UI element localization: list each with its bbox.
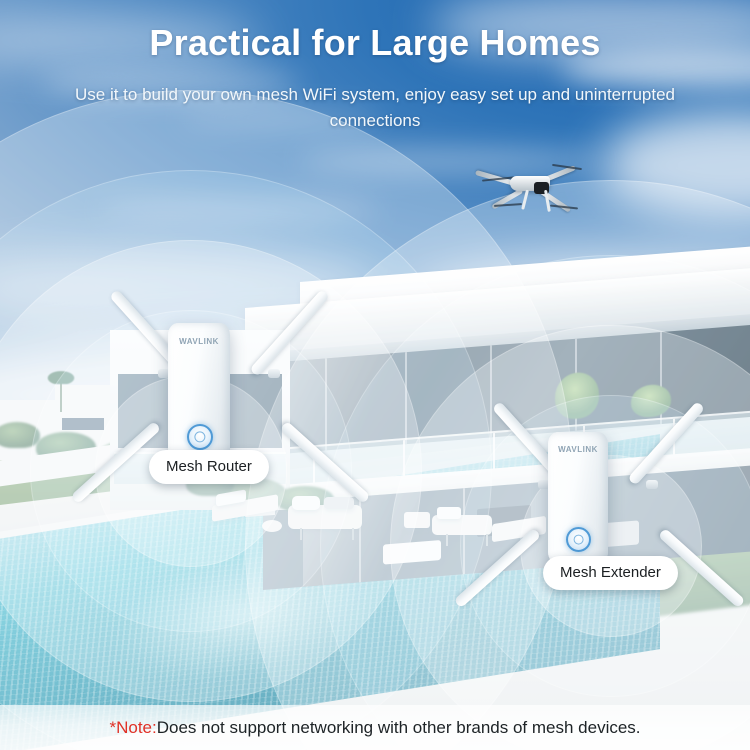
- note-text: Does not support networking with other b…: [157, 718, 641, 738]
- page-title: Practical for Large Homes: [0, 22, 750, 64]
- wavlink-logo: WAVLINK: [548, 445, 608, 454]
- mesh-extender-device[interactable]: WAVLINK: [506, 370, 686, 570]
- status-led-icon: [566, 527, 591, 552]
- antenna-hinge-right: [646, 480, 658, 489]
- wavlink-logo: WAVLINK: [168, 337, 230, 346]
- marketing-banner: WAVLINK WAVLINK Mesh Router Mesh Extende…: [0, 0, 750, 750]
- label-mesh-router[interactable]: Mesh Router: [149, 450, 269, 484]
- footer-note: *Note: Does not support networking with …: [0, 705, 750, 750]
- page-subtitle: Use it to build your own mesh WiFi syste…: [75, 82, 675, 133]
- antenna-hinge-right: [268, 369, 280, 378]
- quadcopter-drone: [478, 160, 578, 212]
- extender-body: WAVLINK: [548, 432, 608, 564]
- router-body: WAVLINK: [168, 323, 230, 463]
- status-led-icon: [187, 424, 213, 450]
- mesh-router-device[interactable]: WAVLINK: [128, 255, 308, 470]
- note-marker: *Note:: [109, 718, 156, 738]
- label-mesh-extender[interactable]: Mesh Extender: [543, 556, 678, 590]
